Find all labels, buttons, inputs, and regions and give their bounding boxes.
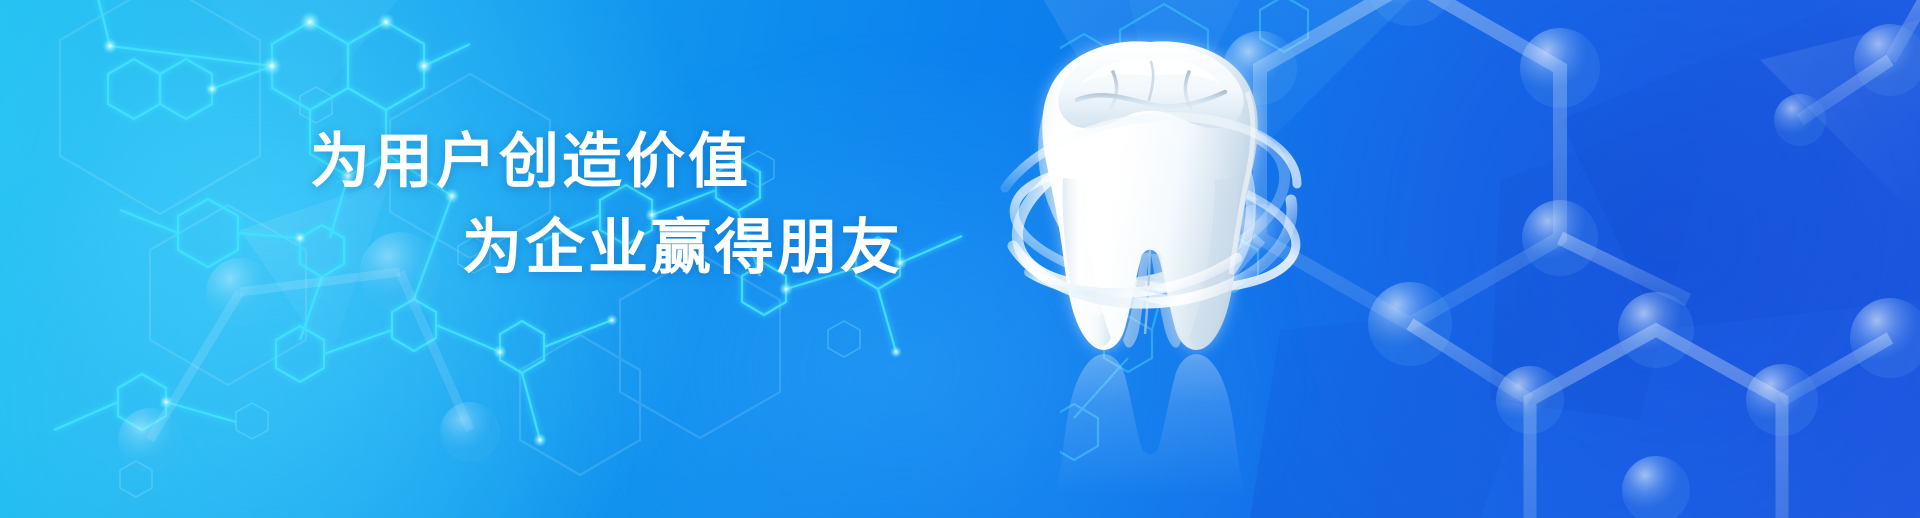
headline-line-1: 为用户创造价值 [310, 132, 980, 192]
hexagon-molecule-edge [1774, 0, 1920, 146]
tooth-reflection [1042, 354, 1258, 498]
headline-line-2: 为企业赢得朋友 [462, 218, 980, 278]
molar-tooth-illustration [985, 28, 1315, 498]
tooth-graphic [985, 28, 1315, 498]
hexagon-molecule-lower [1410, 292, 1920, 518]
dental-promo-banner: 为用户创造价值 为企业赢得朋友 [0, 0, 1920, 518]
headline-block: 为用户创造价值 为企业赢得朋友 [0, 132, 980, 278]
